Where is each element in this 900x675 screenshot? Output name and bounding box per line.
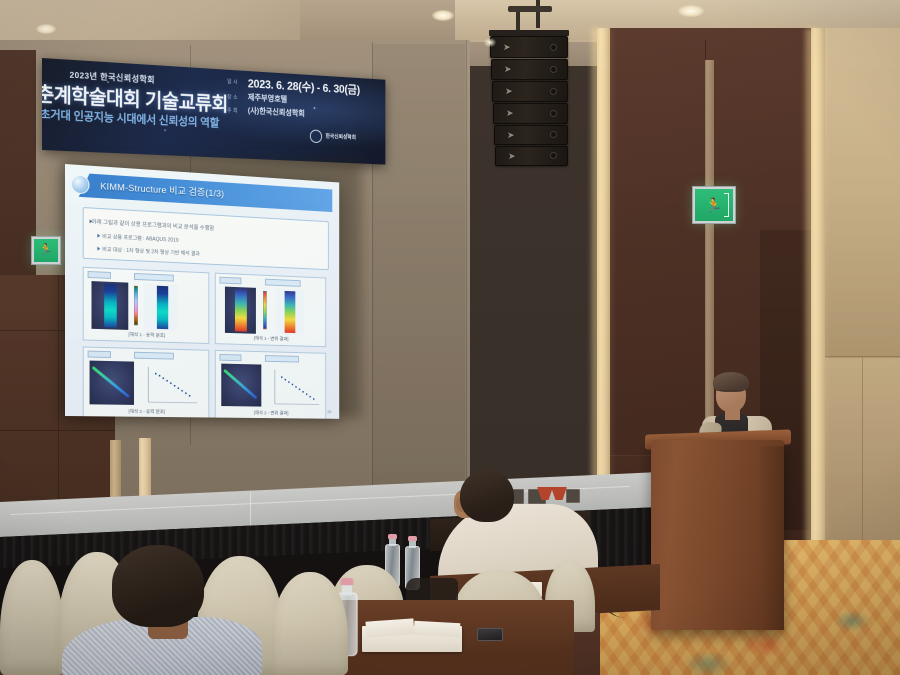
slide-panel: [해석 1 - 응력 분포] bbox=[83, 267, 210, 344]
audience-member-patterned-shirt bbox=[62, 545, 272, 675]
speaker-light-glint bbox=[484, 38, 496, 47]
society-logo-icon bbox=[310, 129, 322, 143]
panel-caption: [해석 1 - 응력 분포] bbox=[84, 330, 209, 341]
speaker-chevron-icon: ➤ bbox=[503, 43, 511, 52]
wall-trim bbox=[58, 275, 59, 520]
slide-panel: [해석 2 - 응력 분포] bbox=[83, 346, 210, 418]
speaker-port-icon bbox=[550, 131, 557, 138]
stage-pillar bbox=[110, 440, 121, 502]
notebook-page bbox=[366, 618, 415, 637]
panel-tab-label bbox=[134, 273, 174, 282]
speaker-mount-plate bbox=[508, 6, 552, 12]
stage-pillar bbox=[139, 438, 151, 502]
speaker-module: ➤ bbox=[492, 81, 568, 102]
scatter-plot bbox=[145, 365, 200, 407]
panel-tab-label bbox=[219, 277, 241, 285]
slide-bullet: 비교 상용 프로그램 : ABAQUS 2019 bbox=[102, 233, 178, 244]
panel-tab-label bbox=[265, 279, 301, 287]
panel-tab-label bbox=[265, 355, 299, 362]
downlight-icon bbox=[36, 24, 56, 34]
slide-bullet: 아래 그림과 같이 상용 프로그램과의 비교 분석을 수행함 bbox=[92, 217, 215, 232]
color-scale-bar bbox=[263, 291, 267, 329]
panel-caption: [해석 2 - 응력 분포] bbox=[84, 407, 209, 415]
downlight-icon bbox=[678, 5, 704, 17]
exit-sign-face: 🏃 bbox=[34, 239, 58, 262]
panel-tab-label bbox=[134, 352, 174, 360]
panel-tab-label bbox=[219, 354, 241, 361]
exit-door-icon bbox=[724, 193, 729, 217]
society-logo-text: 한국신뢰성학회 bbox=[326, 132, 356, 141]
banner-info-venue: 제주부영호텔 bbox=[248, 92, 287, 105]
bottle-cap-icon bbox=[340, 578, 353, 585]
speaker-module: ➤ bbox=[490, 36, 568, 58]
fea-column bbox=[285, 291, 296, 333]
emergency-exit-sign-right: 🏃 bbox=[692, 186, 736, 224]
emergency-exit-sign-left: 🏃 bbox=[31, 236, 61, 265]
speaker-chevron-icon: ➤ bbox=[508, 152, 516, 161]
speaker-chevron-icon: ➤ bbox=[506, 109, 514, 118]
bottle-cap-icon bbox=[388, 534, 397, 539]
slide-panel: [해석 2 - 변위 결과] bbox=[215, 350, 326, 419]
banner-info-label: 장 소 bbox=[227, 93, 238, 101]
speaker-module: ➤ bbox=[491, 59, 568, 80]
wall-trim bbox=[823, 356, 900, 357]
speaker-module: ➤ bbox=[495, 146, 568, 166]
speaker-port-icon bbox=[550, 88, 557, 95]
panel-tab-label bbox=[88, 351, 111, 359]
speaker-chevron-icon: ➤ bbox=[507, 131, 515, 140]
slide-page-number: 16 bbox=[327, 409, 331, 414]
bottle-cap-icon bbox=[408, 536, 417, 541]
fea-column bbox=[157, 286, 168, 329]
speaker-port-icon bbox=[550, 44, 557, 51]
presenter-hair bbox=[713, 372, 749, 392]
speaker-port-icon bbox=[550, 152, 557, 159]
slide-bullet: 비교 대상 : 1차 형상 및 2차 형상 기반 해석 결과 bbox=[102, 246, 200, 258]
wall-trim bbox=[862, 358, 863, 558]
speaker-chevron-icon: ➤ bbox=[505, 87, 513, 96]
attendee-head bbox=[112, 545, 204, 627]
presentation-slide: KIMM-Structure 비교 검증(1/3) 아래 그림과 같이 상용 프… bbox=[65, 164, 339, 419]
banner-info-label: 주 최 bbox=[227, 106, 238, 114]
speaker-port-icon bbox=[550, 66, 557, 73]
panel-caption: [해석 1 - 변위 결과] bbox=[216, 334, 326, 344]
attendee-head bbox=[460, 470, 514, 522]
slide-panel: [해석 1 - 변위 결과] bbox=[215, 273, 326, 348]
slide-bullet-box: 아래 그림과 같이 상용 프로그램과의 비교 분석을 수행함 비교 상용 프로그… bbox=[83, 207, 329, 270]
color-scale-bar bbox=[134, 286, 138, 325]
fea-column bbox=[104, 284, 117, 328]
downlight-icon bbox=[432, 10, 454, 21]
banner-info-label: 일 시 bbox=[227, 77, 238, 85]
fea-column bbox=[235, 289, 247, 332]
smartphone[interactable] bbox=[477, 628, 503, 641]
slide-logo-icon bbox=[71, 174, 90, 194]
speaker-rigging-rod bbox=[536, 0, 540, 28]
scatter-plot bbox=[272, 368, 322, 409]
panel-tab-label bbox=[88, 271, 111, 279]
speaker-chevron-icon: ➤ bbox=[504, 65, 512, 74]
glasses-icon bbox=[717, 390, 743, 395]
running-man-icon: 🏃 bbox=[39, 245, 53, 256]
pillar-uplight bbox=[592, 28, 614, 544]
conference-hall-scene: 2023년 한국신뢰성학회 춘계학술대회 기술교류회 초거대 인공지능 시대에서… bbox=[0, 0, 900, 675]
projection-screen: KIMM-Structure 비교 검증(1/3) 아래 그림과 같이 상용 프… bbox=[65, 164, 339, 419]
exit-sign-face: 🏃 bbox=[695, 189, 733, 221]
panel-caption: [해석 2 - 변위 결과] bbox=[216, 409, 326, 417]
pillar-uplight bbox=[806, 28, 830, 548]
podium-side-panel bbox=[760, 446, 784, 630]
wall-panel bbox=[372, 44, 466, 484]
wall-cream-right bbox=[823, 28, 900, 358]
speaker-port-icon bbox=[550, 110, 557, 117]
speaker-module: ➤ bbox=[493, 103, 568, 124]
speaker-module: ➤ bbox=[494, 125, 568, 145]
running-man-icon: 🏃 bbox=[705, 198, 722, 212]
notebook-page bbox=[414, 621, 461, 637]
